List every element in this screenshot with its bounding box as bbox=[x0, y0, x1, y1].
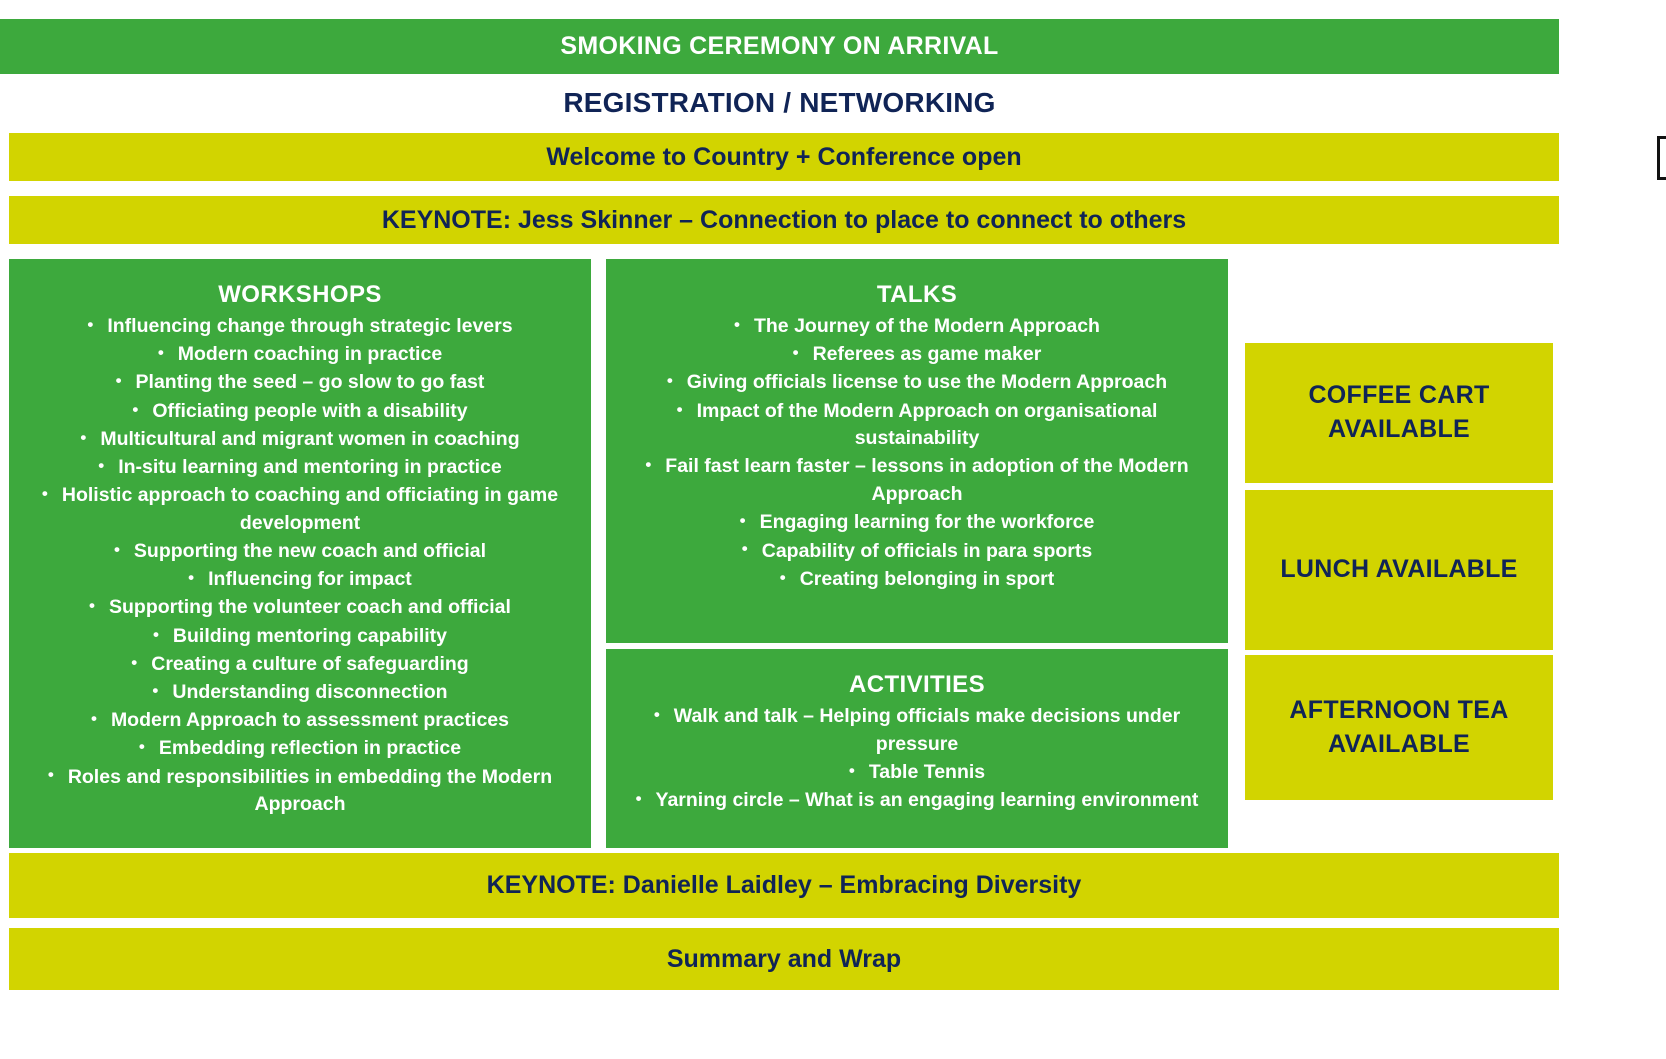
bullet-icon: • bbox=[636, 789, 642, 808]
list-item: •Modern coaching in practice bbox=[23, 341, 577, 369]
afternoon-tea-box: AFTERNOON TEA AVAILABLE bbox=[1245, 655, 1553, 800]
bullet-icon: • bbox=[188, 568, 194, 587]
bullet-icon: • bbox=[740, 511, 746, 530]
list-item-label: Engaging learning for the workforce bbox=[760, 511, 1095, 533]
bullet-icon: • bbox=[131, 653, 137, 672]
list-item: •Influencing for impact bbox=[23, 566, 577, 594]
list-item: •The Journey of the Modern Approach bbox=[620, 313, 1214, 341]
lunch-box: LUNCH AVAILABLE bbox=[1245, 490, 1553, 650]
talks-panel: TALKS •The Journey of the Modern Approac… bbox=[606, 259, 1228, 643]
list-item: •Planting the seed – go slow to go fast bbox=[23, 369, 577, 397]
welcome-bar: Welcome to Country + Conference open bbox=[9, 133, 1559, 181]
bullet-icon: • bbox=[780, 568, 786, 587]
coffee-cart-box: COFFEE CART AVAILABLE bbox=[1245, 343, 1553, 483]
list-item-label: Giving officials license to use the Mode… bbox=[687, 371, 1167, 393]
bullet-icon: • bbox=[793, 343, 799, 362]
list-item: •Walk and talk – Helping officials make … bbox=[620, 703, 1214, 758]
bullet-icon: • bbox=[742, 539, 748, 558]
list-item-label: Referees as game maker bbox=[813, 343, 1042, 365]
list-item-label: Fail fast learn faster – lessons in adop… bbox=[665, 455, 1188, 505]
list-item-label: Roles and responsibilities in embedding … bbox=[68, 766, 552, 816]
bullet-icon: • bbox=[734, 315, 740, 334]
talks-heading: TALKS bbox=[620, 281, 1214, 309]
workshops-panel: WORKSHOPS •Influencing change through st… bbox=[9, 259, 591, 848]
list-item-label: Creating belonging in sport bbox=[800, 568, 1055, 590]
smoking-ceremony-bar: SMOKING CEREMONY ON ARRIVAL bbox=[0, 19, 1559, 74]
list-item: •Creating belonging in sport bbox=[620, 566, 1214, 594]
list-item: •Yarning circle – What is an engaging le… bbox=[620, 787, 1214, 815]
list-item-label: Table Tennis bbox=[869, 761, 985, 783]
bullet-icon: • bbox=[89, 596, 95, 615]
list-item-label: Understanding disconnection bbox=[172, 681, 447, 703]
list-item-label: In-situ learning and mentoring in practi… bbox=[118, 456, 502, 478]
list-item-label: Holistic approach to coaching and offici… bbox=[62, 484, 558, 534]
list-item: •Holistic approach to coaching and offic… bbox=[23, 482, 577, 537]
afternoon-tea-label: AFTERNOON TEA AVAILABLE bbox=[1255, 694, 1543, 762]
list-item-label: Embedding reflection in practice bbox=[159, 737, 461, 759]
workshops-heading: WORKSHOPS bbox=[23, 281, 577, 309]
list-item-label: Influencing change through strategic lev… bbox=[107, 315, 512, 337]
keynote-morning-bar: KEYNOTE: Jess Skinner – Connection to pl… bbox=[9, 196, 1559, 244]
list-item: •Understanding disconnection bbox=[23, 679, 577, 707]
list-item: •Capability of officials in para sports bbox=[620, 538, 1214, 566]
list-item-label: Planting the seed – go slow to go fast bbox=[136, 371, 485, 393]
bullet-icon: • bbox=[114, 540, 120, 559]
list-item: •Supporting the volunteer coach and offi… bbox=[23, 594, 577, 622]
list-item: •Engaging learning for the workforce bbox=[620, 509, 1214, 537]
list-item-label: Impact of the Modern Approach on organis… bbox=[697, 400, 1158, 450]
bullet-icon: • bbox=[42, 484, 48, 503]
bullet-icon: • bbox=[48, 765, 54, 784]
keynote-afternoon-label: KEYNOTE: Danielle Laidley – Embracing Di… bbox=[487, 871, 1082, 900]
bullet-icon: • bbox=[116, 371, 122, 390]
list-item: •Impact of the Modern Approach on organi… bbox=[620, 398, 1214, 453]
list-item-label: Modern coaching in practice bbox=[178, 343, 442, 365]
bullet-icon: • bbox=[152, 681, 158, 700]
welcome-label: Welcome to Country + Conference open bbox=[546, 143, 1021, 172]
list-item-label: Building mentoring capability bbox=[173, 625, 447, 647]
list-item-label: Supporting the volunteer coach and offic… bbox=[109, 596, 511, 618]
list-item-label: Capability of officials in para sports bbox=[762, 540, 1092, 562]
list-item-label: Supporting the new coach and official bbox=[134, 540, 486, 562]
keynote-morning-label: KEYNOTE: Jess Skinner – Connection to pl… bbox=[382, 206, 1186, 235]
list-item-label: Walk and talk – Helping officials make d… bbox=[674, 705, 1180, 755]
bullet-icon: • bbox=[87, 315, 93, 334]
list-item: •Referees as game maker bbox=[620, 341, 1214, 369]
summary-wrap-bar: Summary and Wrap bbox=[9, 928, 1559, 990]
keynote-afternoon-bar: KEYNOTE: Danielle Laidley – Embracing Di… bbox=[9, 853, 1559, 918]
list-item: •Supporting the new coach and official bbox=[23, 538, 577, 566]
list-item-label: Multicultural and migrant women in coach… bbox=[100, 428, 519, 450]
bullet-icon: • bbox=[667, 371, 673, 390]
bullet-icon: • bbox=[677, 400, 683, 419]
bullet-icon: • bbox=[849, 761, 855, 780]
list-item-label: Officiating people with a disability bbox=[152, 400, 467, 422]
bullet-icon: • bbox=[139, 737, 145, 756]
talks-list: •The Journey of the Modern Approach •Ref… bbox=[620, 313, 1214, 593]
list-item: •Table Tennis bbox=[620, 759, 1214, 787]
list-item: •Fail fast learn faster – lessons in ado… bbox=[620, 453, 1214, 508]
lunch-label: LUNCH AVAILABLE bbox=[1280, 553, 1517, 587]
bullet-icon: • bbox=[91, 709, 97, 728]
bullet-icon: • bbox=[654, 705, 660, 724]
list-item-label: Yarning circle – What is an engaging lea… bbox=[656, 789, 1199, 811]
list-item: •Creating a culture of safeguarding bbox=[23, 651, 577, 679]
bullet-icon: • bbox=[98, 456, 104, 475]
bullet-icon: • bbox=[153, 625, 159, 644]
bullet-icon: • bbox=[645, 455, 651, 474]
workshops-list: •Influencing change through strategic le… bbox=[23, 313, 577, 819]
registration-networking-bar: REGISTRATION / NETWORKING bbox=[0, 82, 1559, 124]
registration-networking-label: REGISTRATION / NETWORKING bbox=[563, 87, 995, 119]
list-item: •Multicultural and migrant women in coac… bbox=[23, 426, 577, 454]
activities-list: •Walk and talk – Helping officials make … bbox=[620, 703, 1214, 815]
list-item: •Officiating people with a disability bbox=[23, 398, 577, 426]
list-item: •Influencing change through strategic le… bbox=[23, 313, 577, 341]
bullet-icon: • bbox=[132, 400, 138, 419]
edge-cutoff-marker bbox=[1657, 136, 1666, 180]
list-item-label: Creating a culture of safeguarding bbox=[151, 653, 468, 675]
list-item: •In-situ learning and mentoring in pract… bbox=[23, 454, 577, 482]
coffee-cart-label: COFFEE CART AVAILABLE bbox=[1255, 379, 1543, 447]
list-item-label: Influencing for impact bbox=[208, 568, 412, 590]
smoking-ceremony-label: SMOKING CEREMONY ON ARRIVAL bbox=[560, 32, 998, 61]
list-item: •Roles and responsibilities in embedding… bbox=[23, 764, 577, 819]
list-item-label: Modern Approach to assessment practices bbox=[111, 709, 509, 731]
bullet-icon: • bbox=[158, 343, 164, 362]
list-item: •Building mentoring capability bbox=[23, 623, 577, 651]
summary-wrap-label: Summary and Wrap bbox=[667, 945, 901, 974]
list-item: •Modern Approach to assessment practices bbox=[23, 707, 577, 735]
list-item-label: The Journey of the Modern Approach bbox=[754, 315, 1100, 337]
list-item: •Embedding reflection in practice bbox=[23, 735, 577, 763]
list-item: •Giving officials license to use the Mod… bbox=[620, 369, 1214, 397]
conference-agenda-canvas: SMOKING CEREMONY ON ARRIVAL REGISTRATION… bbox=[0, 0, 1666, 1059]
activities-heading: ACTIVITIES bbox=[620, 671, 1214, 699]
bullet-icon: • bbox=[80, 428, 86, 447]
activities-panel: ACTIVITIES •Walk and talk – Helping offi… bbox=[606, 649, 1228, 848]
